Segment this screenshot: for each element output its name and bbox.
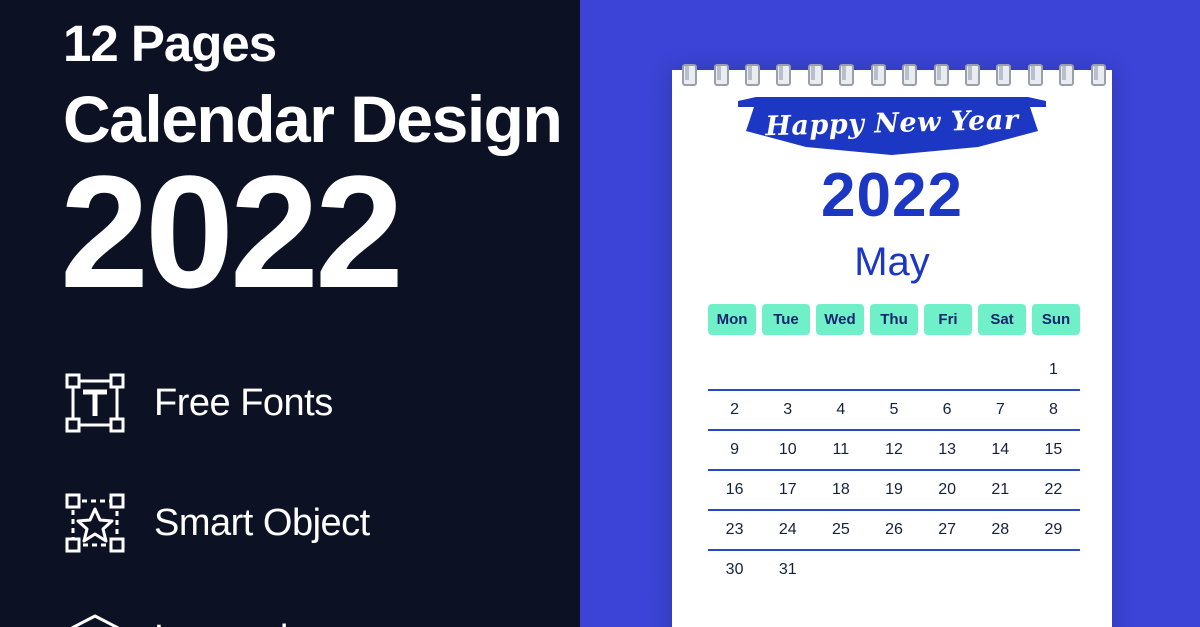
calendar-week-row: 23 24 25 26 27 28 29 xyxy=(708,511,1080,551)
day-cell: 14 xyxy=(974,431,1027,469)
spiral-ring xyxy=(901,64,914,86)
day-cell xyxy=(761,351,814,389)
calendar-week-row: 16 17 18 19 20 21 22 xyxy=(708,471,1080,511)
day-cell: 4 xyxy=(814,391,867,429)
year-heading: 2022 xyxy=(60,152,400,312)
feature-item-layered: Layered xyxy=(64,608,288,627)
day-cell: 26 xyxy=(867,511,920,549)
day-cell: 31 xyxy=(761,551,814,589)
spiral-ring xyxy=(838,64,851,86)
day-cell: 15 xyxy=(1027,431,1080,469)
day-cell xyxy=(867,551,920,589)
weekday-header-sun: Sun xyxy=(1032,304,1080,335)
day-cell: 17 xyxy=(761,471,814,509)
weekday-header-tue: Tue xyxy=(762,304,810,335)
calendar-year: 2022 xyxy=(672,165,1112,227)
day-cell: 21 xyxy=(974,471,1027,509)
calendar-week-row: 9 10 11 12 13 14 15 xyxy=(708,431,1080,471)
happy-new-year-ribbon: Happy New Year xyxy=(738,97,1046,155)
weekday-header-sat: Sat xyxy=(978,304,1026,335)
day-cell: 8 xyxy=(1027,391,1080,429)
spiral-ring xyxy=(995,64,1008,86)
day-cell xyxy=(921,551,974,589)
day-cell: 9 xyxy=(708,431,761,469)
day-cell xyxy=(814,351,867,389)
pages-count-heading: 12 Pages xyxy=(63,18,276,69)
calendar-card: Happy New Year 2022 May Mon Tue Wed Thu … xyxy=(672,70,1112,627)
layers-icon xyxy=(64,608,126,627)
day-cell: 24 xyxy=(761,511,814,549)
day-cell xyxy=(974,351,1027,389)
spiral-ring xyxy=(964,64,977,86)
spiral-ring xyxy=(933,64,946,86)
calendar-week-row: 1 xyxy=(708,351,1080,391)
spiral-ring xyxy=(775,64,788,86)
promo-text-column: 12 Pages Calendar Design 2022 Free Fonts xyxy=(60,0,680,627)
spiral-ring xyxy=(1027,64,1040,86)
weekday-header-mon: Mon xyxy=(708,304,756,335)
spiral-ring xyxy=(1090,64,1103,86)
weekday-header-fri: Fri xyxy=(924,304,972,335)
spiral-ring xyxy=(870,64,883,86)
day-cell: 23 xyxy=(708,511,761,549)
calendar-grid: Mon Tue Wed Thu Fri Sat Sun 1 xyxy=(708,304,1080,589)
day-cell: 16 xyxy=(708,471,761,509)
text-tool-icon xyxy=(64,372,126,434)
day-cell: 11 xyxy=(814,431,867,469)
feature-label: Layered xyxy=(154,618,288,627)
spiral-ring xyxy=(681,64,694,86)
calendar-month: May xyxy=(672,242,1112,282)
spiral-ring xyxy=(1058,64,1071,86)
day-cell: 10 xyxy=(761,431,814,469)
day-cell: 29 xyxy=(1027,511,1080,549)
day-cell xyxy=(921,351,974,389)
day-cell: 1 xyxy=(1027,351,1080,389)
day-cell: 13 xyxy=(921,431,974,469)
day-cell: 12 xyxy=(867,431,920,469)
day-cell: 20 xyxy=(921,471,974,509)
weekday-header-row: Mon Tue Wed Thu Fri Sat Sun xyxy=(708,304,1080,335)
promo-banner: 12 Pages Calendar Design 2022 Free Fonts xyxy=(0,0,1200,627)
feature-label: Free Fonts xyxy=(154,382,333,425)
day-cell: 22 xyxy=(1027,471,1080,509)
day-cell: 28 xyxy=(974,511,1027,549)
calendar-weeks: 1 2 3 4 5 6 7 8 9 10 11 12 13 14 xyxy=(708,351,1080,589)
day-cell: 5 xyxy=(867,391,920,429)
day-cell: 2 xyxy=(708,391,761,429)
feature-label: Smart Object xyxy=(154,502,370,545)
day-cell xyxy=(814,551,867,589)
feature-item-smart-object: Smart Object xyxy=(64,492,370,554)
day-cell: 19 xyxy=(867,471,920,509)
day-cell: 30 xyxy=(708,551,761,589)
day-cell: 7 xyxy=(974,391,1027,429)
spiral-binding xyxy=(672,64,1112,88)
day-cell: 25 xyxy=(814,511,867,549)
smart-object-star-icon xyxy=(64,492,126,554)
day-cell xyxy=(867,351,920,389)
weekday-header-wed: Wed xyxy=(816,304,864,335)
day-cell: 27 xyxy=(921,511,974,549)
day-cell xyxy=(974,551,1027,589)
spiral-ring xyxy=(807,64,820,86)
day-cell: 6 xyxy=(921,391,974,429)
day-cell xyxy=(1027,551,1080,589)
spiral-ring xyxy=(744,64,757,86)
day-cell: 3 xyxy=(761,391,814,429)
day-cell xyxy=(708,351,761,389)
spiral-ring xyxy=(713,64,726,86)
feature-item-free-fonts: Free Fonts xyxy=(64,372,333,434)
weekday-header-thu: Thu xyxy=(870,304,918,335)
day-cell: 18 xyxy=(814,471,867,509)
calendar-week-row: 2 3 4 5 6 7 8 xyxy=(708,391,1080,431)
calendar-week-row: 30 31 xyxy=(708,551,1080,589)
